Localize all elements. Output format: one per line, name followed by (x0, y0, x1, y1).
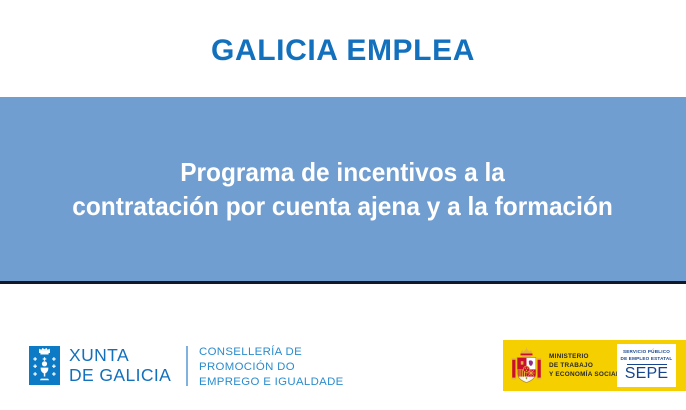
xunta-wordmark-line-2: DE GALICIA (69, 366, 171, 386)
ministerio-line-1: MINISTERIO (549, 352, 620, 361)
consellaria-label: CONSELLERÍA DE PROMOCIÓN DO EMPREGO E IG… (199, 345, 344, 390)
footer-logo-band: XUNTA DE GALICIA CONSELLERÍA DE PROMOCIÓ… (0, 284, 686, 410)
page-title: GALICIA EMPLEA (211, 32, 475, 66)
sepe-subtitle: SERVICIO PÚBLICO DE EMPLEO ESTATAL (621, 349, 673, 362)
xunta-de-galicia-logo: XUNTA DE GALICIA (29, 346, 171, 386)
ministerio-wordmark: MINISTERIO DE TRABAJO Y ECONOMÍA SOCIAL (549, 352, 620, 379)
sepe-subtitle-line-1: SERVICIO PÚBLICO (621, 349, 673, 356)
sepe-subtitle-line-2: DE EMPLEO ESTATAL (621, 356, 673, 363)
ministerio-line-3: Y ECONOMÍA SOCIAL (549, 370, 620, 379)
xunta-de-galicia-wordmark: XUNTA DE GALICIA (69, 346, 171, 386)
spain-coat-of-arms-icon (511, 347, 542, 385)
consellaria-line-3: EMPREGO E IGUALDADE (199, 375, 344, 390)
sepe-acronym: SEPE (625, 366, 669, 382)
program-banner: Programa de incentivos a la contratación… (0, 97, 686, 281)
logo-divider (186, 346, 188, 386)
sepe-logo: SERVICIO PÚBLICO DE EMPLEO ESTATAL SEPE (617, 344, 676, 387)
consellaria-line-1: CONSELLERÍA DE (199, 345, 344, 360)
xunta-de-galicia-emblem-icon (29, 346, 60, 385)
program-banner-text: Programa de incentivos a la contratación… (73, 155, 614, 224)
ministerio-line-2: DE TRABAJO (549, 361, 620, 370)
xunta-wordmark-line-1: XUNTA (69, 346, 171, 366)
poster-page: GALICIA EMPLEA Programa de incentivos a … (0, 0, 686, 410)
consellaria-line-2: PROMOCIÓN DO (199, 360, 344, 375)
program-banner-line-1: Programa de incentivos a la (73, 155, 614, 189)
header-band: GALICIA EMPLEA (0, 0, 686, 97)
program-banner-line-2: contratación por cuenta ajena y a la for… (73, 189, 614, 223)
